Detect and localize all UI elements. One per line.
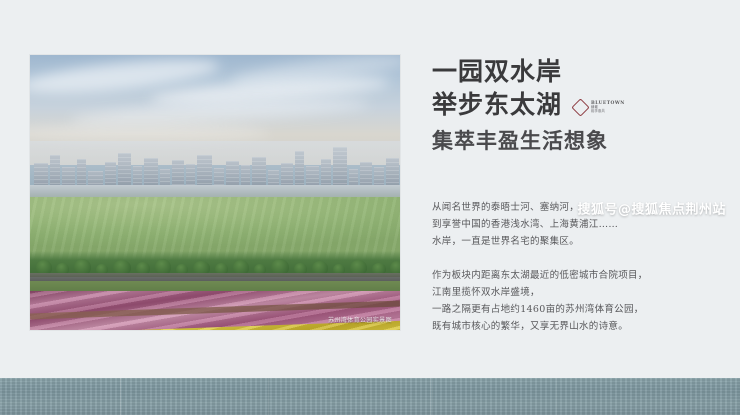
- headline-line-3: 集萃丰盈生活想象: [432, 124, 712, 157]
- paragraph-2-line-1: 作为板块内距离东太湖最近的低密城市合院项目，: [432, 267, 712, 284]
- body-copy: 从闻名世界的泰晤士河、塞纳河， 到享誉中国的香港浅水湾、上海黄浦江…… 水岸，一…: [432, 199, 712, 335]
- hero-photo: 苏州湾体育公园实景图: [30, 55, 400, 330]
- footer-band: [0, 378, 740, 415]
- paragraph-2: 作为板块内距离东太湖最近的低密城市合院项目， 江南里揽怀双水岸盛境， 一路之隔更…: [432, 267, 712, 335]
- headline-line-2: 举步东太湖: [432, 88, 562, 121]
- brand-logo-text: BLUETOWN 绿城 桃李春风: [591, 101, 625, 113]
- sohu-watermark: 搜狐号@搜狐焦点荆州站: [577, 198, 726, 217]
- cloud-shape: [30, 125, 270, 141]
- headline-block: 一园双水岸 举步东太湖 BLUETOWN 绿城 桃李春风 集萃丰盈生活想象: [432, 55, 712, 157]
- paragraph-2-line-2: 江南里揽怀双水岸盛境，: [432, 284, 712, 301]
- paragraph-1-line-2: 到享誉中国的香港浅水湾、上海黄浦江……: [432, 216, 712, 233]
- slide-page: 苏州湾体育公园实景图 一园双水岸 举步东太湖 BLUETOWN 绿城 桃李春风 …: [0, 0, 740, 415]
- headline-line-2-row: 举步东太湖 BLUETOWN 绿城 桃李春风: [432, 88, 712, 121]
- headline-line-1: 一园双水岸: [432, 55, 712, 88]
- brand-logo: BLUETOWN 绿城 桃李春风: [574, 101, 625, 114]
- brand-subname-cn: 桃李春风: [591, 110, 625, 114]
- paragraph-2-line-4: 既有城市核心的繁华，又享无界山水的诗意。: [432, 318, 712, 335]
- diamond-outline-icon: [571, 98, 589, 116]
- photo-caption: 苏州湾体育公园实景图: [328, 315, 392, 324]
- text-column: 一园双水岸 举步东太湖 BLUETOWN 绿城 桃李春风 集萃丰盈生活想象 从闻…: [432, 55, 712, 335]
- paragraph-2-line-3: 一路之隔更有占地约1460亩的苏州湾体育公园，: [432, 301, 712, 318]
- paragraph-1-line-3: 水岸，一直是世界名宅的聚集区。: [432, 233, 712, 250]
